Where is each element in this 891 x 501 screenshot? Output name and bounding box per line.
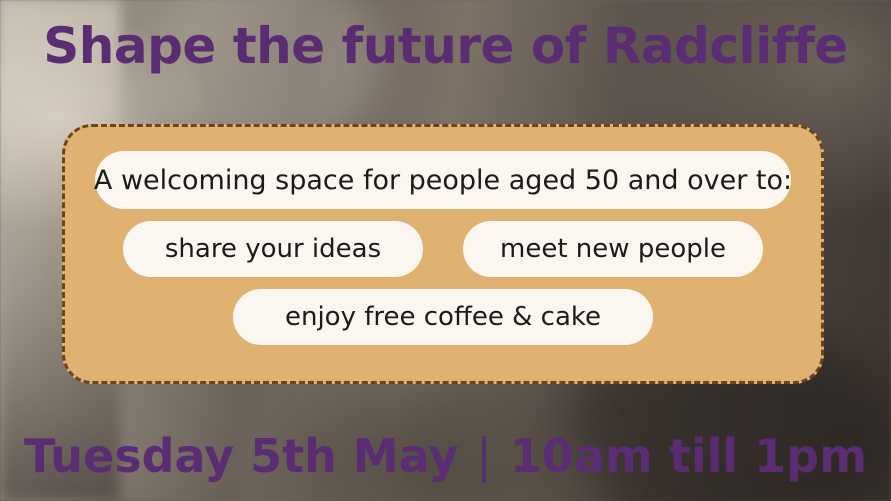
benefit-pill-meet-people: meet new people [463, 221, 763, 277]
card-intro-pill: A welcoming space for people aged 50 and… [95, 151, 791, 209]
benefit-pill-share-ideas: share your ideas [123, 221, 423, 277]
benefit-pill-row-top: share your ideas meet new people [89, 221, 797, 277]
footer-separator: | [476, 428, 492, 484]
benefit-pill-coffee-cake: enjoy free coffee & cake [233, 289, 653, 345]
footer-date: Tuesday 5th May [24, 428, 458, 484]
poster-footer: Tuesday 5th May | 10am till 1pm [0, 428, 891, 484]
footer-time: 10am till 1pm [510, 428, 867, 484]
dashed-info-card: A welcoming space for people aged 50 and… [62, 124, 824, 384]
poster-canvas: Shape the future of Radcliffe A welcomin… [0, 0, 891, 501]
poster-headline: Shape the future of Radcliffe [0, 16, 891, 76]
benefit-pill-row-bottom: enjoy free coffee & cake [89, 289, 797, 345]
